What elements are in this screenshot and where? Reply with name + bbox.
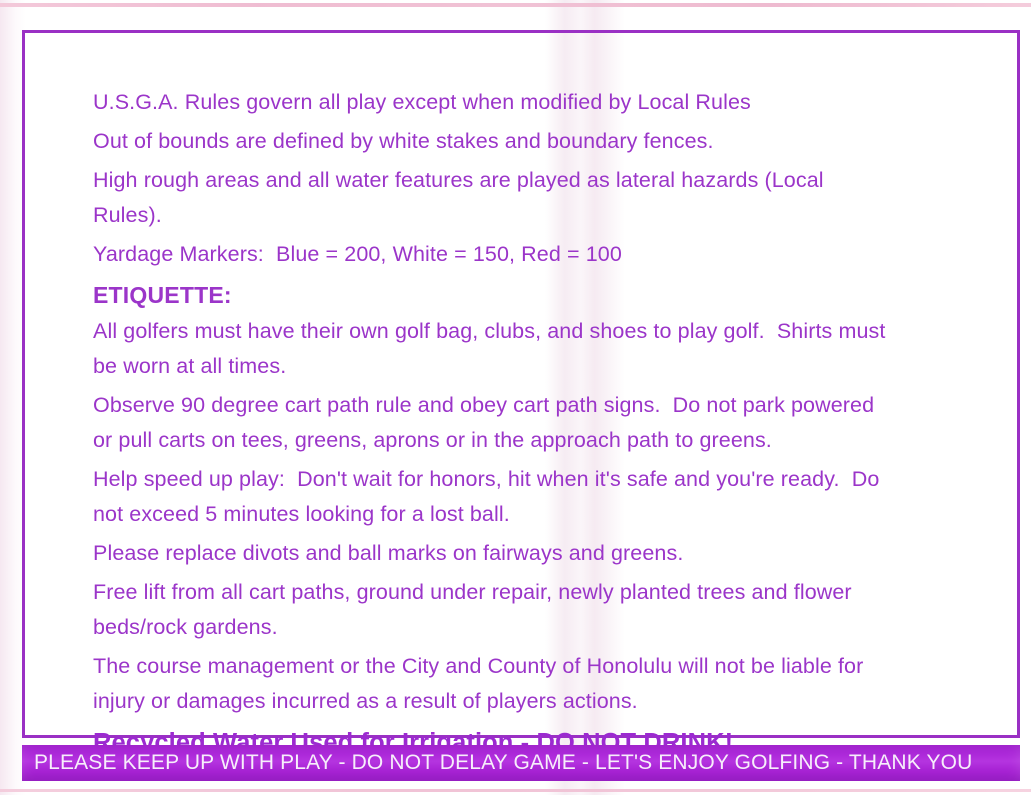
rule-line: beds/rock gardens. (93, 610, 1018, 645)
rule-line: The course management or the City and Co… (93, 649, 1018, 684)
rule-line: Observe 90 degree cart path rule and obe… (93, 388, 1018, 423)
rule-paragraph-usga-rules: U.S.G.A. Rules govern all play except wh… (93, 85, 1018, 120)
rule-paragraph-free-lift: Free lift from all cart paths, ground un… (93, 575, 1018, 645)
rule-line: U.S.G.A. Rules govern all play except wh… (93, 85, 1018, 120)
rule-paragraph-etiquette-heading: ETIQUETTE: (93, 276, 1018, 314)
rule-line: be worn at all times. (93, 349, 1018, 384)
rule-paragraph-speed-up-play: Help speed up play: Don't wait for honor… (93, 462, 1018, 532)
rule-paragraph-yardage-markers: Yardage Markers: Blue = 200, White = 150… (93, 237, 1018, 272)
rule-paragraph-replace-divots: Please replace divots and ball marks on … (93, 536, 1018, 571)
rule-line: Free lift from all cart paths, ground un… (93, 575, 1018, 610)
bottom-banner: PLEASE KEEP UP WITH PLAY - DO NOT DELAY … (22, 745, 1020, 781)
rule-paragraph-golf-bag-shirts: All golfers must have their own golf bag… (93, 314, 1018, 384)
rule-paragraph-cart-path-rule: Observe 90 degree cart path rule and obe… (93, 388, 1018, 458)
scan-top-edge-line (0, 3, 1031, 7)
rule-paragraph-high-rough-water: High rough areas and all water features … (93, 163, 1018, 233)
rule-line: Yardage Markers: Blue = 200, White = 150… (93, 237, 1018, 272)
rule-line: or pull carts on tees, greens, aprons or… (93, 423, 1018, 458)
rule-line: All golfers must have their own golf bag… (93, 314, 1018, 349)
rule-line: Out of bounds are defined by white stake… (93, 124, 1018, 159)
rule-paragraph-out-of-bounds: Out of bounds are defined by white stake… (93, 124, 1018, 159)
rule-line: Please replace divots and ball marks on … (93, 536, 1018, 571)
rule-line: injury or damages incurred as a result o… (93, 684, 1018, 719)
rule-paragraph-liability: The course management or the City and Co… (93, 649, 1018, 719)
rule-line: ETIQUETTE: (93, 276, 1018, 314)
bottom-banner-text: PLEASE KEEP UP WITH PLAY - DO NOT DELAY … (22, 751, 972, 775)
rule-line: not exceed 5 minutes looking for a lost … (93, 497, 1018, 532)
rules-card: U.S.G.A. Rules govern all play except wh… (22, 30, 1020, 738)
scan-bottom-edge-line (0, 789, 1031, 792)
rule-line: Rules). (93, 198, 1018, 233)
rule-line: Help speed up play: Don't wait for honor… (93, 462, 1018, 497)
rules-text-block: U.S.G.A. Rules govern all play except wh… (93, 85, 1018, 763)
rule-line: High rough areas and all water features … (93, 163, 1018, 198)
